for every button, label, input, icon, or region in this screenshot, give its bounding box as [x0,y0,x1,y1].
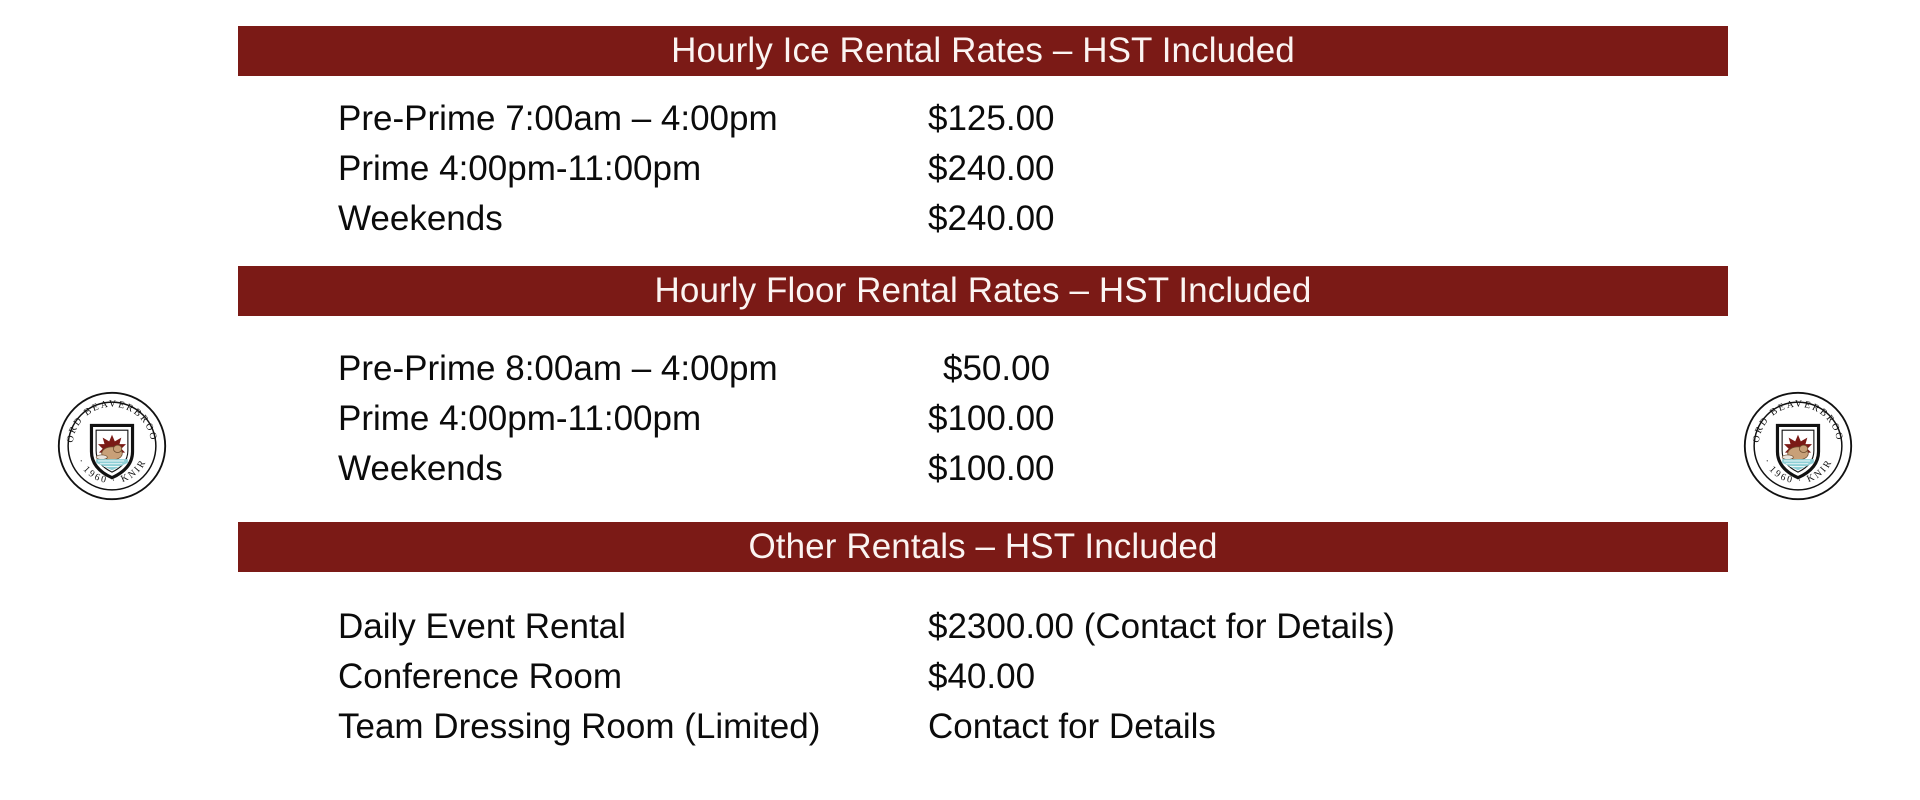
section-rows-ice: Pre-Prime 7:00am – 4:00pm $125.00 Prime … [238,94,1728,244]
row-label: Prime 4:00pm-11:00pm [338,394,928,444]
section-header-floor: Hourly Floor Rental Rates – HST Included [238,266,1728,316]
row-value: $100.00 [928,444,1728,494]
row-value: $100.00 [928,394,1728,444]
row-value: Contact for Details [928,702,1728,752]
row-label: Pre-Prime 7:00am – 4:00pm [338,94,928,144]
row-label: Pre-Prime 8:00am – 4:00pm [338,344,928,394]
table-row: Weekends $240.00 [338,194,1728,244]
spacer [238,76,1728,94]
table-row: Prime 4:00pm-11:00pm $100.00 [338,394,1728,444]
row-label: Team Dressing Room (Limited) [338,702,928,752]
section-rows-floor: Pre-Prime 8:00am – 4:00pm $50.00 Prime 4… [238,344,1728,494]
rink-logo-left: LORD BEAVERBROOK · 1960 · KNIR [56,390,168,502]
section-rows-other: Daily Event Rental $2300.00 (Contact for… [238,602,1728,752]
rental-rates-table: Hourly Ice Rental Rates – HST Included P… [238,26,1728,752]
row-label: Conference Room [338,652,928,702]
table-row: Pre-Prime 8:00am – 4:00pm $50.00 [338,344,1728,394]
row-value: $2300.00 (Contact for Details) [928,602,1728,652]
table-row: Pre-Prime 7:00am – 4:00pm $125.00 [338,94,1728,144]
table-row: Team Dressing Room (Limited) Contact for… [338,702,1728,752]
rental-rates-poster: LORD BEAVERBROOK · 1960 · KNIR [0,0,1920,800]
row-value: $50.00 [928,344,1728,394]
section-header-other: Other Rentals – HST Included [238,522,1728,572]
spacer [238,316,1728,344]
row-label: Prime 4:00pm-11:00pm [338,144,928,194]
row-label: Weekends [338,194,928,244]
table-row: Conference Room $40.00 [338,652,1728,702]
table-row: Weekends $100.00 [338,444,1728,494]
table-row: Prime 4:00pm-11:00pm $240.00 [338,144,1728,194]
row-value: $240.00 [928,144,1728,194]
row-label: Weekends [338,444,928,494]
row-value: $40.00 [928,652,1728,702]
row-value: $125.00 [928,94,1728,144]
table-row: Daily Event Rental $2300.00 (Contact for… [338,602,1728,652]
spacer [238,572,1728,602]
spacer [238,494,1728,522]
row-label: Daily Event Rental [338,602,928,652]
spacer [238,244,1728,266]
rink-logo-right: LORD BEAVERBROOK · 1960 · KNIR [1742,390,1854,502]
row-value: $240.00 [928,194,1728,244]
section-header-ice: Hourly Ice Rental Rates – HST Included [238,26,1728,76]
